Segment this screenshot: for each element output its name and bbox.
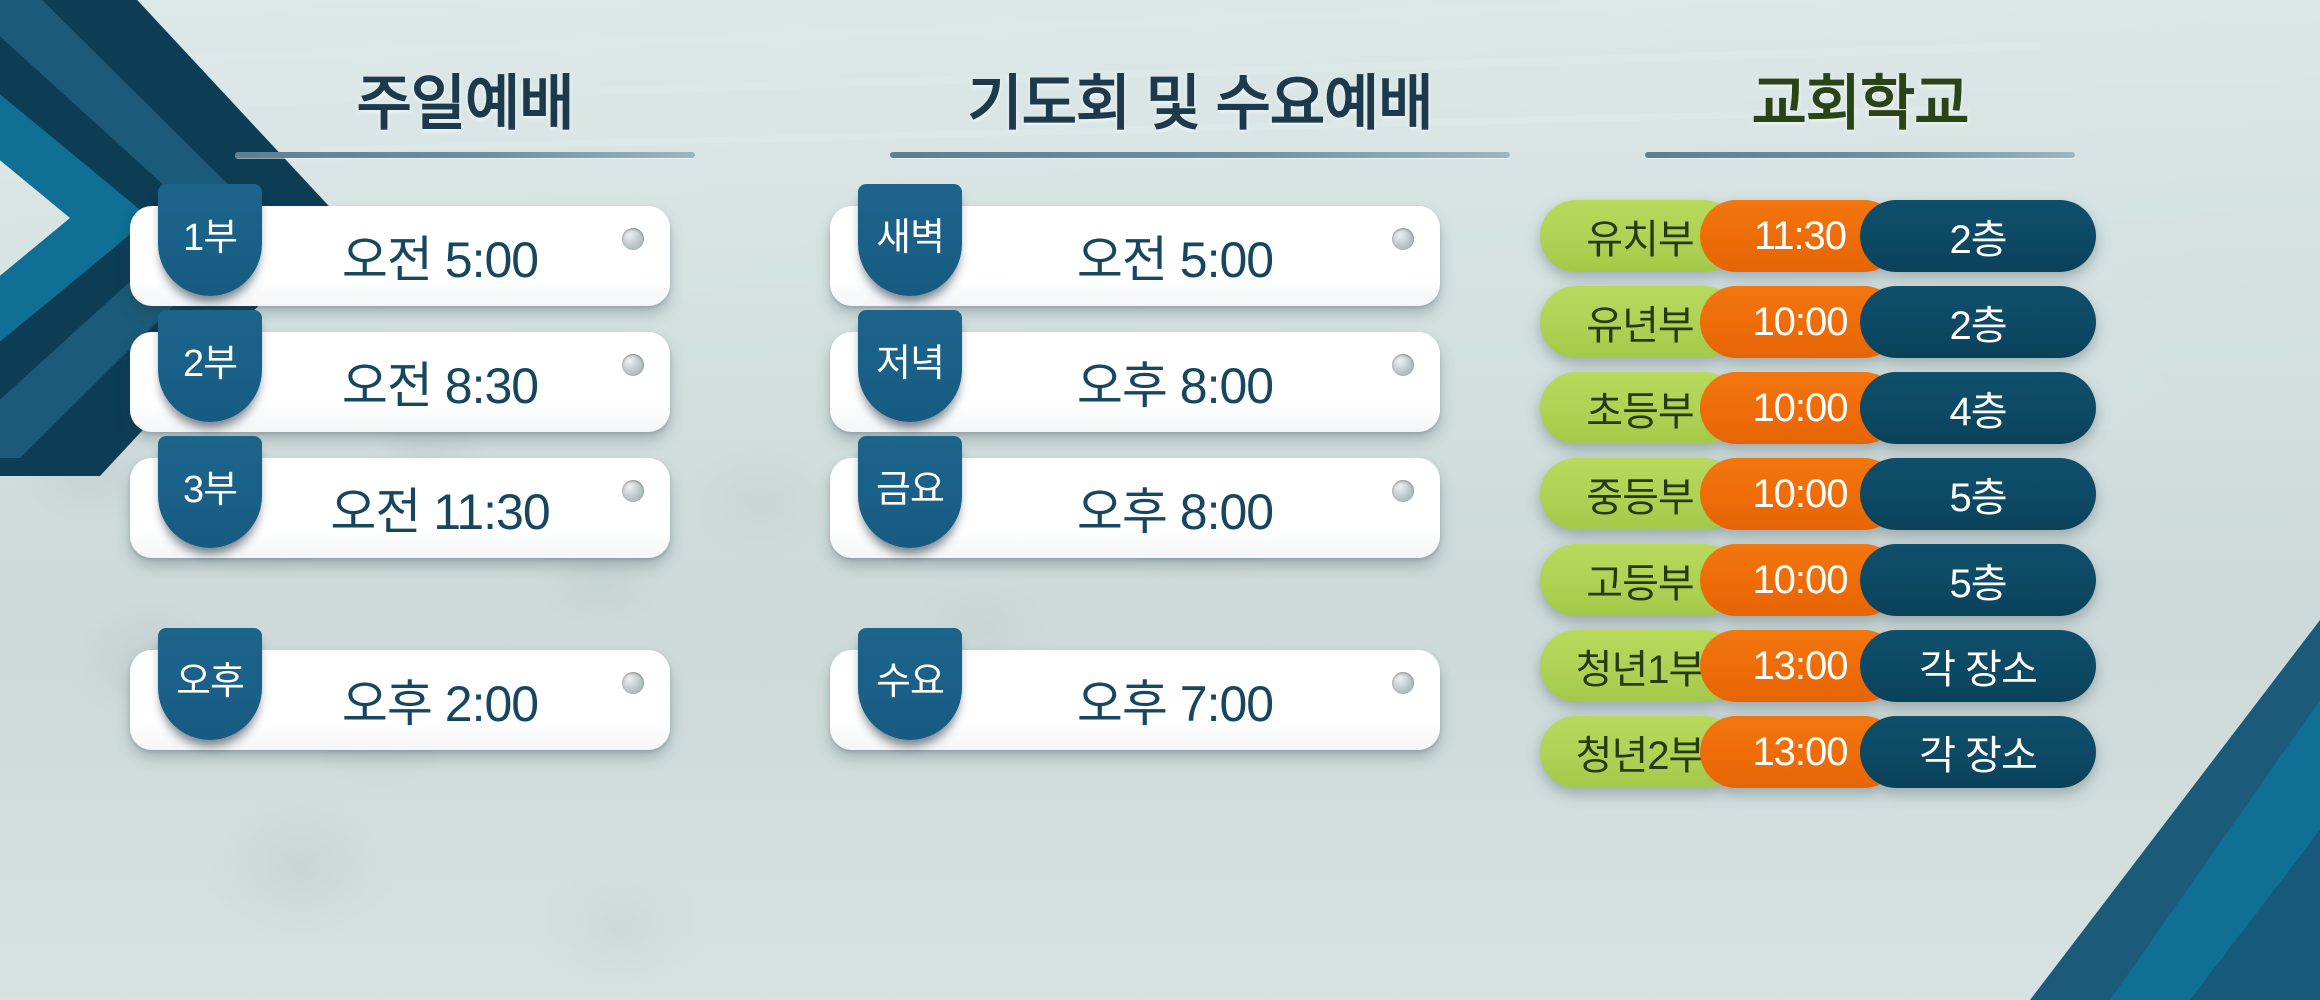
service-card[interactable]: 2부 오전 8:30 <box>130 332 670 432</box>
school-place: 각 장소 <box>1860 716 2096 788</box>
service-badge: 금요 <box>858 436 962 548</box>
service-time: 오후 8:00 <box>970 458 1380 558</box>
school-pill-list: 유치부 11:30 2층 유년부 10:00 2층 초등부 10:00 4층 중… <box>1530 200 2190 788</box>
service-badge: 수요 <box>858 628 962 740</box>
school-row[interactable]: 초등부 10:00 4층 <box>1540 372 2190 444</box>
service-time: 오후 2:00 <box>270 650 610 750</box>
rivet-icon <box>1392 228 1414 250</box>
rivet-icon <box>622 228 644 250</box>
service-card[interactable]: 1부 오전 5:00 <box>130 206 670 306</box>
school-place: 각 장소 <box>1860 630 2096 702</box>
column-prayer-wednesday: 기도회 및 수요예배 새벽 오전 5:00 저녁 오후 8:00 금요 오후 8… <box>830 0 1570 776</box>
column-church-school: 교회학교 유치부 11:30 2층 유년부 10:00 2층 초등부 10:00… <box>1530 0 2190 802</box>
title-rule-school <box>1645 152 2075 158</box>
school-row[interactable]: 중등부 10:00 5층 <box>1540 458 2190 530</box>
column-title-church-school: 교회학교 <box>1530 0 2190 136</box>
school-place: 2층 <box>1860 200 2096 272</box>
column-title-sunday-worship: 주일예배 <box>130 0 800 136</box>
service-badge: 저녁 <box>858 310 962 422</box>
school-place: 2층 <box>1860 286 2096 358</box>
rivet-icon <box>1392 672 1414 694</box>
school-place: 5층 <box>1860 458 2096 530</box>
service-time: 오후 7:00 <box>970 650 1380 750</box>
service-time: 오후 8:00 <box>970 332 1380 432</box>
service-time: 오전 5:00 <box>970 206 1380 306</box>
rivet-icon <box>622 354 644 376</box>
title-rule-prayer <box>890 152 1510 158</box>
service-badge: 3부 <box>158 436 262 548</box>
rivet-icon <box>1392 480 1414 502</box>
school-row[interactable]: 청년1부 13:00 각 장소 <box>1540 630 2190 702</box>
rivet-icon <box>622 672 644 694</box>
school-place: 5층 <box>1860 544 2096 616</box>
service-card[interactable]: 3부 오전 11:30 <box>130 458 670 558</box>
service-card[interactable]: 저녁 오후 8:00 <box>830 332 1440 432</box>
rivet-icon <box>1392 354 1414 376</box>
service-badge: 1부 <box>158 184 262 296</box>
school-row[interactable]: 유치부 11:30 2층 <box>1540 200 2190 272</box>
service-card[interactable]: 금요 오후 8:00 <box>830 458 1440 558</box>
school-row[interactable]: 고등부 10:00 5층 <box>1540 544 2190 616</box>
banner-root: 주일예배 1부 오전 5:00 2부 오전 8:30 3부 오전 11:30 오… <box>0 0 2320 1000</box>
service-card[interactable]: 수요 오후 7:00 <box>830 650 1440 750</box>
service-badge: 오후 <box>158 628 262 740</box>
column-title-prayer-wednesday: 기도회 및 수요예배 <box>830 0 1570 136</box>
service-badge: 2부 <box>158 310 262 422</box>
school-place: 4층 <box>1860 372 2096 444</box>
column-sunday-worship: 주일예배 1부 오전 5:00 2부 오전 8:30 3부 오전 11:30 오… <box>130 0 800 776</box>
service-time: 오전 5:00 <box>270 206 610 306</box>
school-row[interactable]: 유년부 10:00 2층 <box>1540 286 2190 358</box>
rivet-icon <box>622 480 644 502</box>
service-time: 오전 8:30 <box>270 332 610 432</box>
service-card-list-sunday: 1부 오전 5:00 2부 오전 8:30 3부 오전 11:30 오후 오후 … <box>130 206 800 750</box>
service-card-list-prayer: 새벽 오전 5:00 저녁 오후 8:00 금요 오후 8:00 수요 오후 7… <box>830 206 1570 750</box>
school-row[interactable]: 청년2부 13:00 각 장소 <box>1540 716 2190 788</box>
service-card[interactable]: 새벽 오전 5:00 <box>830 206 1440 306</box>
title-rule-sunday <box>235 152 695 158</box>
service-time: 오전 11:30 <box>270 458 610 558</box>
service-badge: 새벽 <box>858 184 962 296</box>
service-card[interactable]: 오후 오후 2:00 <box>130 650 670 750</box>
